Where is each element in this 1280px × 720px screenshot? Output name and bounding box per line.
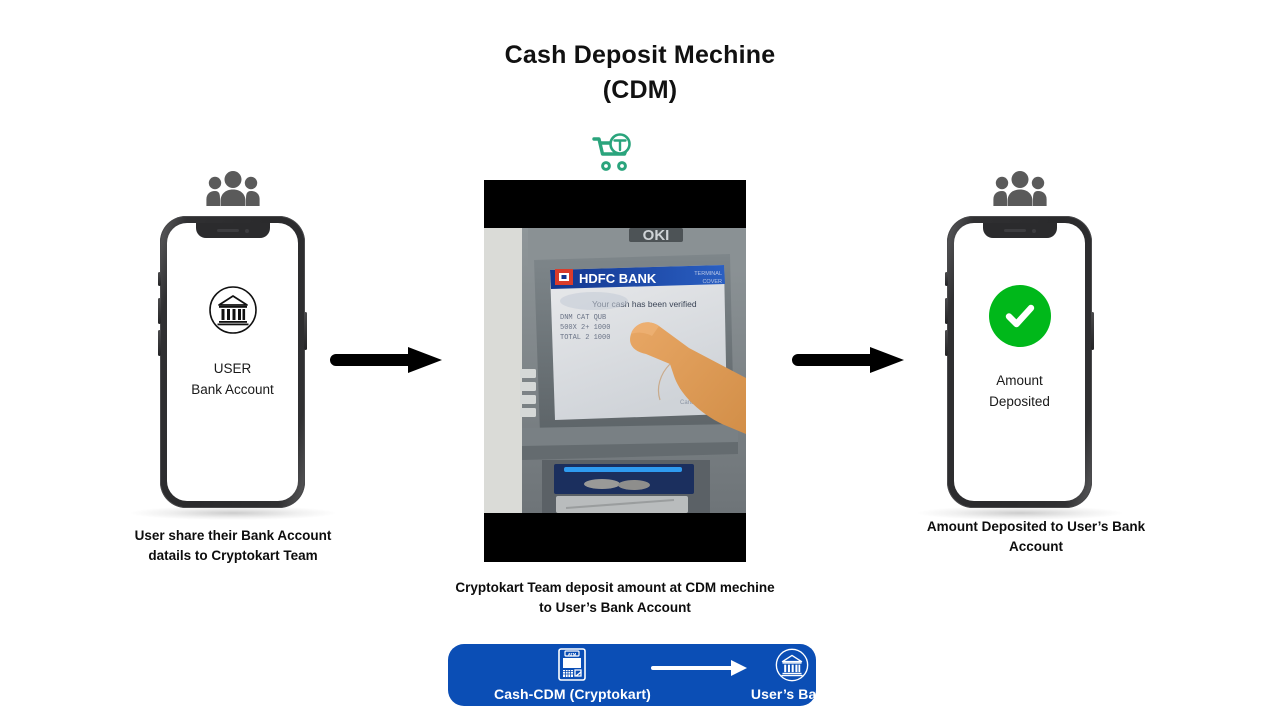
bank-banner-label: HDFC BANK — [579, 271, 657, 286]
phone-right: Amount Deposited — [947, 216, 1092, 508]
phone-left-screen-text: USER Bank Account — [191, 359, 274, 401]
group-of-people-icon — [993, 170, 1047, 206]
screen-table-row-2: TOTAL 2 1000 — [560, 334, 610, 342]
terminal-corner-text-2: COVER — [702, 279, 722, 285]
group-of-people-icon — [206, 170, 260, 206]
phone-shadow-left — [131, 506, 336, 520]
legend-source: ATM Cash-CDM (Cryptokart) — [494, 648, 651, 702]
page-title-line-1: Cash Deposit Mechine — [0, 38, 1280, 73]
screen-table-row-1: 500X 2+ 1000 — [560, 324, 610, 332]
green-check-circle-icon — [989, 285, 1051, 347]
cash-deposit-machine-photo: OKI HDFC BANK TERMINAL COVER Your cash h… — [484, 180, 746, 562]
arrow-left-to-center — [328, 345, 450, 380]
phone-right-screen: Amount Deposited — [954, 223, 1085, 501]
phone-left-screen-line-1: USER — [191, 359, 274, 380]
legend-bar: ATM Cash-CDM (Cryptokart) — [448, 644, 816, 706]
page-title-line-2: (CDM) — [0, 73, 1280, 108]
legend-target: User’s Bank — [751, 648, 833, 702]
phone-left-screen-line-2: Bank Account — [191, 380, 274, 401]
phone-power-button — [304, 312, 307, 350]
machine-brand-label: OKI — [643, 228, 670, 244]
phone-right-screen-line-2: Deposited — [989, 392, 1050, 413]
crypto-shopping-cart-icon — [592, 133, 638, 178]
phone-right-screen-line-1: Amount — [989, 371, 1050, 392]
phone-left: USER Bank Account — [160, 216, 305, 508]
bank-building-circle-icon — [775, 648, 809, 682]
phone-volume-down-button — [945, 330, 948, 356]
earpiece-speaker-icon — [217, 229, 239, 232]
terminal-corner-text-1: TERMINAL — [694, 271, 722, 277]
check-icon — [1000, 296, 1040, 336]
photo-content: OKI HDFC BANK TERMINAL COVER Your cash h… — [484, 228, 746, 513]
atm-icon-label: ATM — [568, 651, 577, 656]
diagram-canvas: Cash Deposit Mechine (CDM) — [0, 0, 1280, 720]
legend-target-label: User’s Bank — [751, 686, 833, 702]
atm-photo-illustration: OKI HDFC BANK TERMINAL COVER Your cash h… — [484, 228, 746, 513]
phone-right-screen-text: Amount Deposited — [989, 371, 1050, 413]
arrow-right-icon — [790, 345, 912, 375]
phone-volume-up-button — [945, 298, 948, 324]
caption-center: Cryptokart Team deposit amount at CDM me… — [448, 578, 782, 619]
phone-volume-up-button — [158, 298, 161, 324]
step-right-deposited: Amount Deposited — [915, 170, 1125, 516]
arrow-center-to-right — [790, 345, 912, 380]
phone-notch-right — [983, 223, 1057, 238]
phone-notch-left — [196, 223, 270, 238]
atm-machine-icon: ATM — [555, 648, 589, 682]
legend-flow-arrow — [651, 658, 751, 678]
caption-left: User share their Bank Account datails to… — [128, 526, 338, 567]
earpiece-speaker-icon — [1004, 229, 1026, 232]
page-title: Cash Deposit Mechine (CDM) — [0, 38, 1280, 107]
step-left-user: USER Bank Account — [128, 170, 338, 516]
arrow-right-icon — [328, 345, 450, 375]
legend-source-label: Cash-CDM (Cryptokart) — [494, 686, 651, 702]
front-camera-icon — [245, 229, 249, 233]
phone-silent-switch — [158, 272, 161, 286]
screen-table-header: DNM CAT QUB — [560, 314, 606, 322]
phone-silent-switch — [945, 272, 948, 286]
front-camera-icon — [1032, 229, 1036, 233]
phone-left-screen: USER Bank Account — [167, 223, 298, 501]
caption-right: Amount Deposited to User’s Bank Account — [925, 517, 1147, 558]
phone-power-button — [1091, 312, 1094, 350]
bank-building-circle-icon — [208, 285, 258, 335]
arrow-right-icon — [651, 658, 751, 678]
phone-volume-down-button — [158, 330, 161, 356]
